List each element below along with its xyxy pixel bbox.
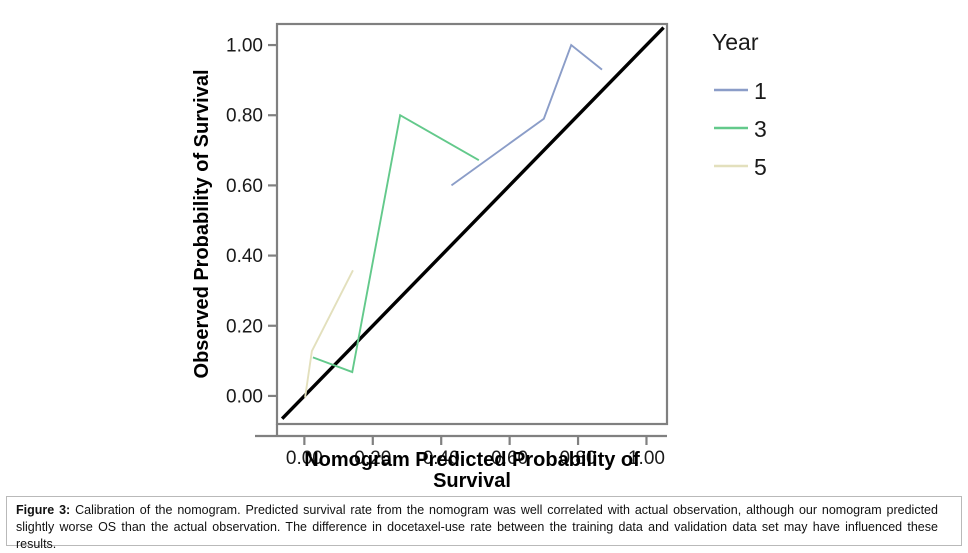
y-axis-tick-label: 0.20 [226, 316, 263, 337]
legend-label-year-1: 1 [754, 78, 767, 104]
caption-figure-number: Figure 3: [16, 503, 70, 517]
legend-label-year-3: 3 [754, 116, 767, 142]
y-axis-tick-label: 1.00 [226, 36, 263, 57]
series-line-year-5 [305, 270, 353, 397]
y-axis-tick-label: 0.00 [226, 386, 263, 407]
legend-title: Year [712, 29, 759, 55]
y-axis-tick-label: 0.60 [226, 176, 263, 197]
figure-caption-box: Figure 3: Calibration of the nomogram. P… [6, 496, 962, 546]
figure-container: 0.000.200.400.600.801.000.000.200.400.60… [0, 0, 968, 552]
x-axis-title: Nomogram Predicted Probability ofSurviva… [304, 449, 640, 492]
y-axis-tick-label: 0.80 [226, 106, 263, 127]
calibration-chart: 0.000.200.400.600.801.000.000.200.400.60… [0, 0, 968, 492]
reference-diagonal-line [282, 28, 663, 419]
y-axis-title: Observed Probability of Survival [191, 70, 213, 379]
y-axis-tick-label: 0.40 [226, 246, 263, 267]
legend-label-year-5: 5 [754, 154, 767, 180]
caption-body: Calibration of the nomogram. Predicted s… [16, 503, 938, 551]
chart-canvas: 0.000.200.400.600.801.000.000.200.400.60… [0, 0, 968, 492]
figure-caption-text: Figure 3: Calibration of the nomogram. P… [16, 502, 938, 553]
